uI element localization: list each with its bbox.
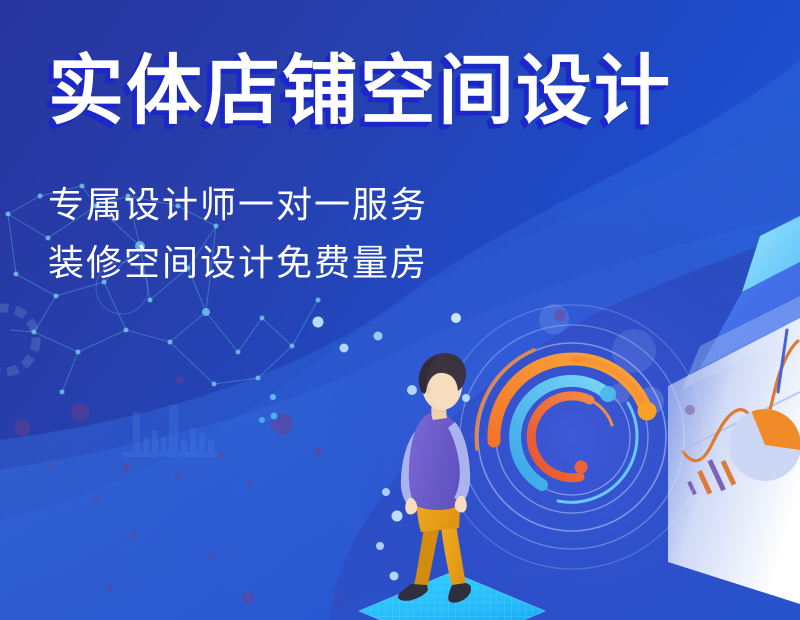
subtitle-line-1: 专属设计师一对一服务 [48, 182, 428, 228]
thin-cyan-arc [558, 403, 637, 502]
inner-orangered-arc [531, 396, 590, 478]
orangered-end-dot [575, 461, 588, 474]
isometric-grid-platform [359, 572, 545, 620]
arm-near [448, 422, 470, 502]
hand-far [405, 498, 417, 514]
cyan-bokeh-dots [259, 313, 470, 581]
headline-block: 实体店铺空间设计 专属设计师一对一服务 装修空间设计免费量房 [0, 0, 800, 320]
hair [419, 353, 466, 392]
shoe-back [398, 584, 428, 601]
mid-cyan-arc [515, 381, 606, 485]
arm-far [401, 428, 425, 506]
thin-orange-arc [476, 350, 534, 449]
page-title: 实体店铺空间设计 [48, 44, 672, 140]
panel-surface [668, 318, 800, 604]
bar-chart [687, 459, 736, 495]
hand-near [455, 496, 467, 512]
orange-end-dot [638, 402, 657, 421]
vest [409, 413, 465, 510]
person-figure [398, 353, 471, 603]
magenta-dots [14, 309, 695, 604]
shoe-front [448, 583, 471, 603]
concentric-rings [440, 305, 704, 569]
line-chart-path [683, 341, 798, 461]
cyan-end-dot [600, 386, 616, 402]
pie-chart [718, 398, 800, 492]
head [422, 362, 462, 410]
marker-line [778, 330, 787, 392]
promo-banner: 实体店铺空间设计 专属设计师一对一服务 装修空间设计免费量房 [0, 0, 800, 620]
outer-orange-arc [494, 359, 646, 441]
bokeh-blobs [539, 304, 664, 415]
panel-baseline [678, 392, 800, 452]
subtitle-line-2: 装修空间设计免费量房 [48, 240, 428, 286]
